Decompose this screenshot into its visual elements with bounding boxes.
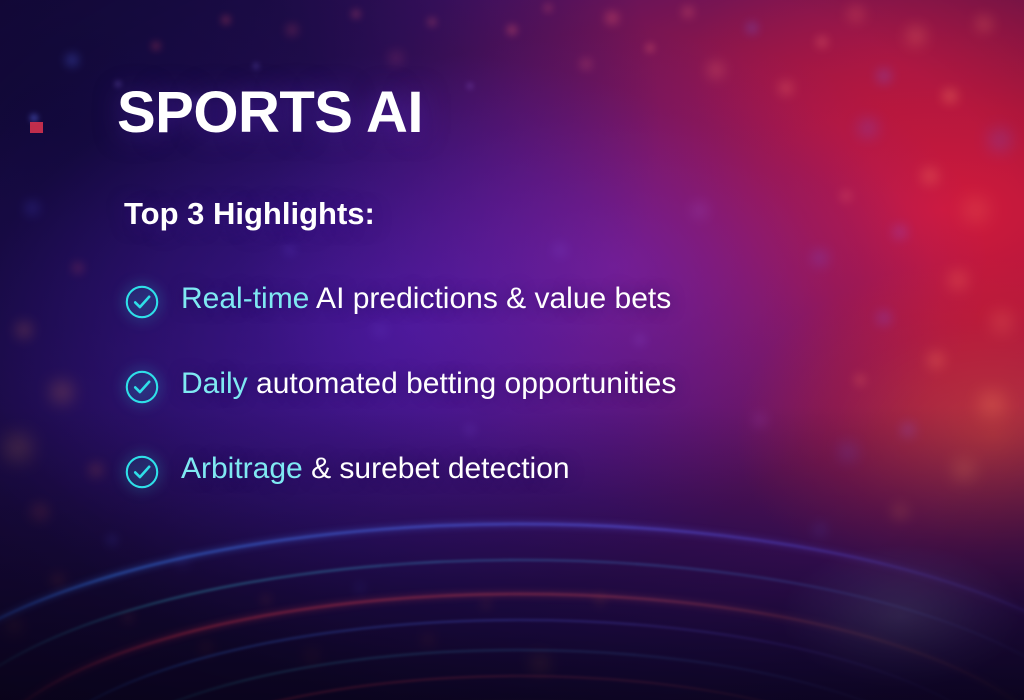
highlight-keyword: Arbitrage [181,452,303,485]
highlight-keyword: Daily [181,367,248,400]
highlight-text: Daily automated betting opportunities [181,365,676,403]
highlight-rest: AI predictions & value bets [309,282,671,315]
highlights-heading: Top 3 Highlights: [124,198,375,229]
highlight-item: Daily automated betting opportunities [124,365,676,450]
check-circle-icon [124,454,160,490]
highlight-item: Arbitrage & surebet detection [124,450,676,535]
highlight-text: Real-time AI predictions & value bets [181,280,671,318]
content-layer: SPORTS AI Top 3 Highlights: Real-time AI… [0,0,1024,700]
highlight-text: Arbitrage & surebet detection [181,450,570,488]
highlight-rest: & surebet detection [303,452,570,485]
check-circle-icon [124,369,160,405]
highlights-list: Real-time AI predictions & value betsDai… [124,280,676,535]
highlight-rest: automated betting opportunities [248,367,677,400]
promo-banner: SPORTS AI Top 3 Highlights: Real-time AI… [0,0,1024,700]
highlight-item: Real-time AI predictions & value bets [124,280,676,365]
check-circle-icon [124,284,160,320]
highlight-keyword: Real-time [181,282,309,315]
page-title: SPORTS AI [117,84,423,142]
